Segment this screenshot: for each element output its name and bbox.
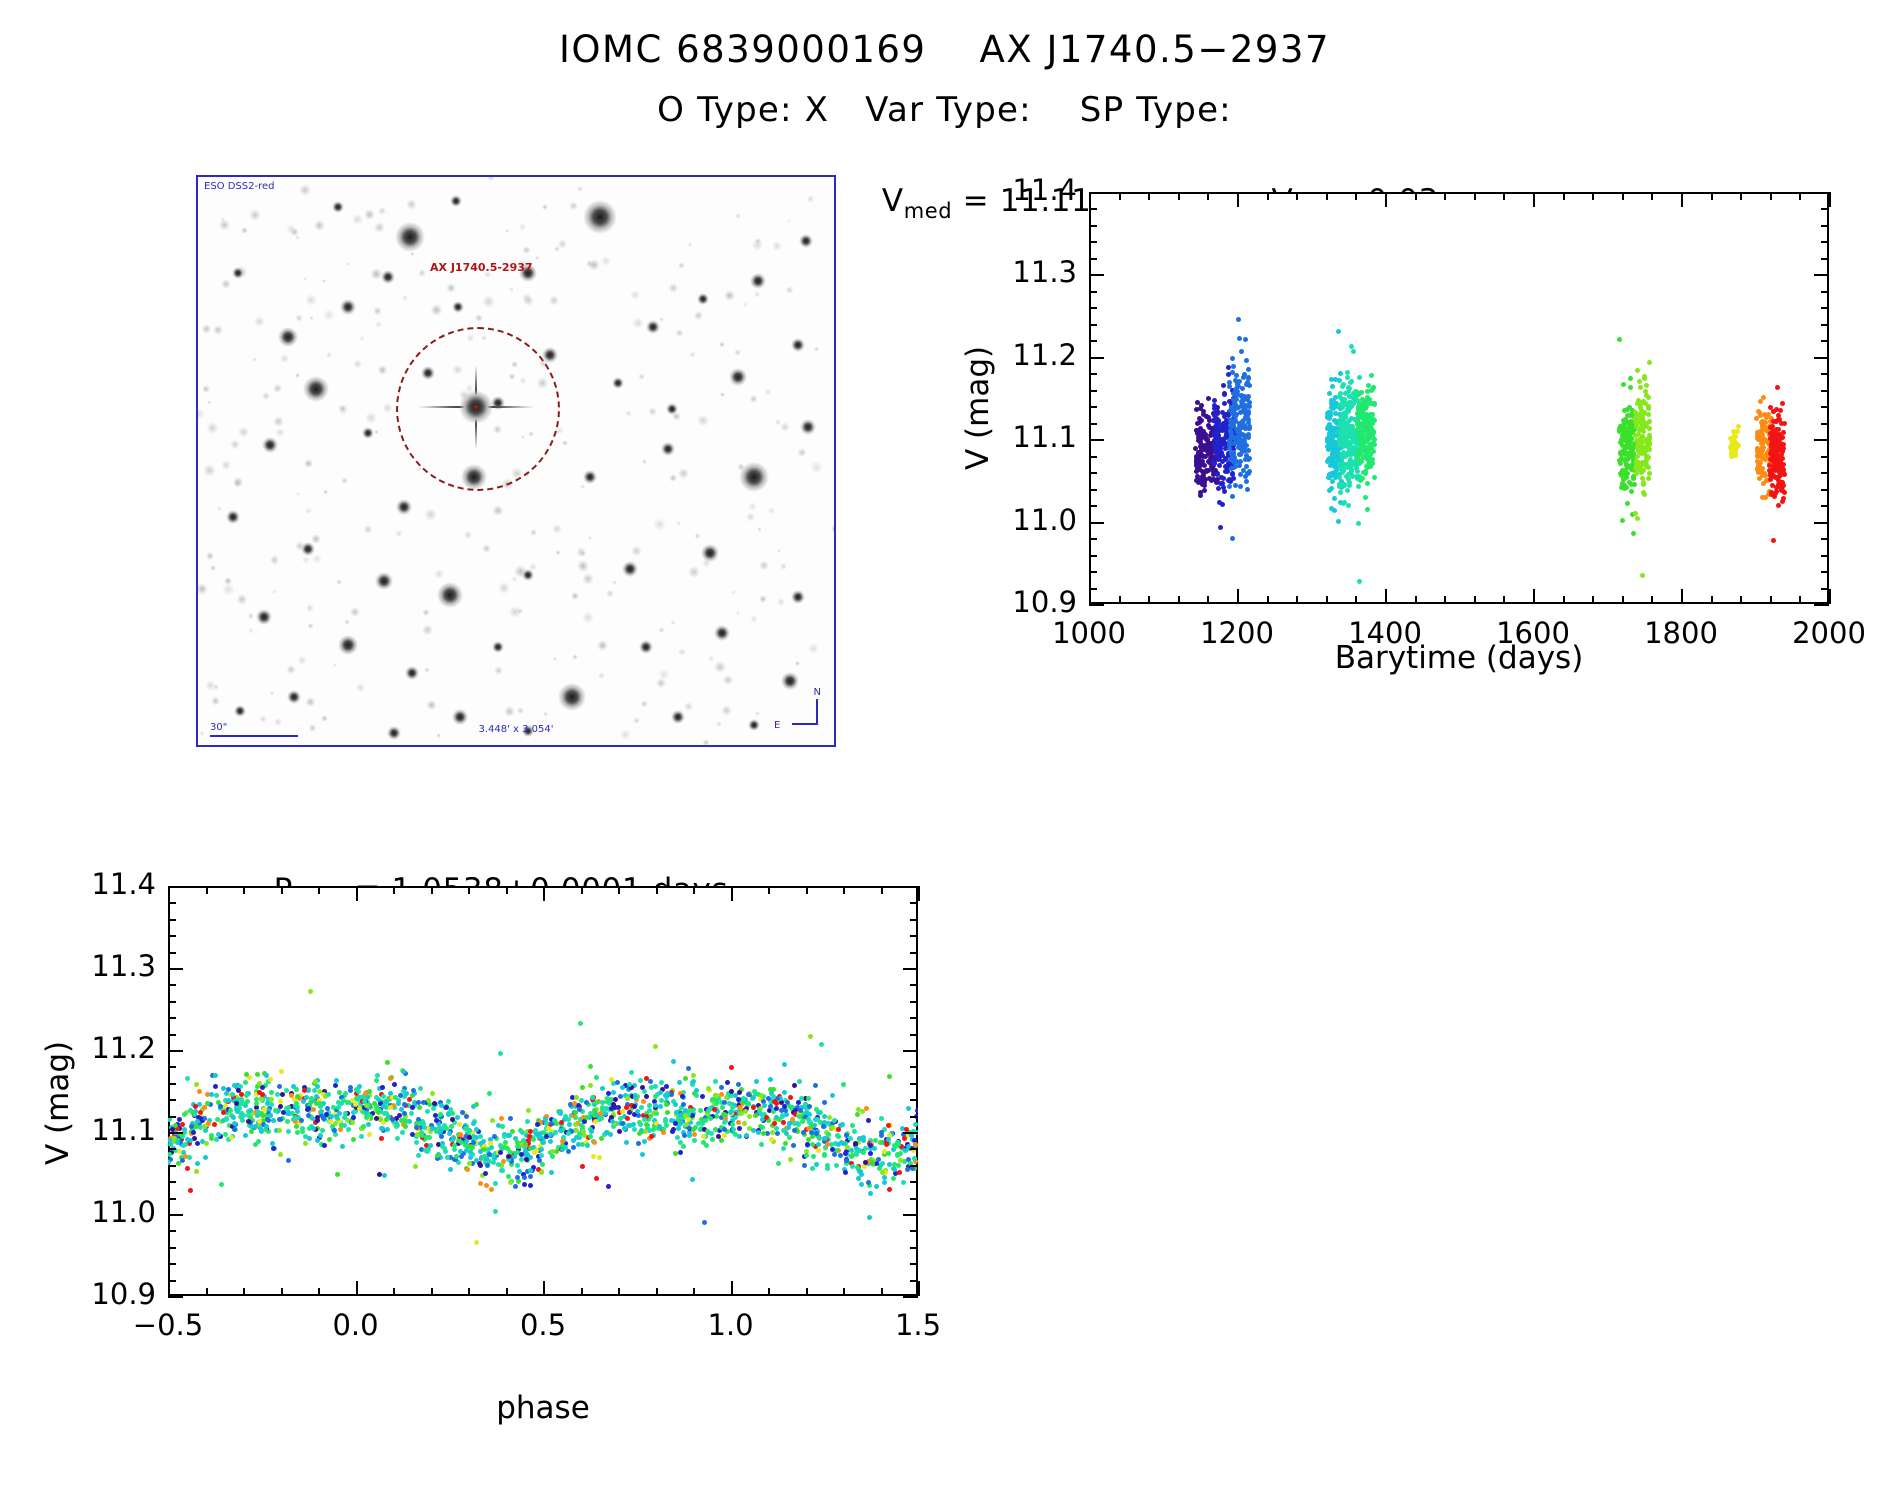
- page-title: IOMC 6839000169 AX J1740.5−2937: [0, 28, 1889, 71]
- axis-tick-label: 11.4: [60, 867, 156, 901]
- finder-chart-frame: ESO DSS2-red AX J1740.5-2937 30" 3.448' …: [196, 175, 836, 747]
- object-type-line: O Type: X Var Type: SP Type:: [0, 90, 1889, 130]
- axis-tick-label: 11.4: [981, 173, 1077, 207]
- time-series-x-axis-title: Barytime (days): [1089, 640, 1829, 676]
- axis-tick-label: 11.3: [981, 255, 1077, 289]
- compass-north-label: N: [814, 687, 821, 698]
- axis-tick-label: 10.9: [60, 1277, 156, 1311]
- axis-tick-label: 0.5: [483, 1308, 603, 1342]
- compass-east-label: E: [774, 720, 780, 731]
- phase-folded-plot[interactable]: [168, 886, 918, 1296]
- target-annotation-label: AX J1740.5-2937: [430, 261, 533, 274]
- axis-tick-label: 0.0: [296, 1308, 416, 1342]
- aperture-circle-icon: [396, 327, 560, 491]
- time-series-data-points: [1089, 192, 1829, 604]
- finder-chart-panel[interactable]: ESO DSS2-red AX J1740.5-2937 30" 3.448' …: [196, 175, 836, 747]
- axis-tick-label: 11.0: [60, 1195, 156, 1229]
- axis-tick-label: 10.9: [981, 585, 1077, 619]
- phase-plot-y-axis-title: V (mag): [40, 1041, 76, 1165]
- iomc-summary-sheet: IOMC 6839000169 AX J1740.5−2937 O Type: …: [0, 0, 1889, 1494]
- vmed-symbol: V: [882, 183, 904, 219]
- phase-plot-x-axis-title: phase: [168, 1390, 918, 1426]
- scale-bar-label: 30": [210, 722, 227, 733]
- field-size-label: 3.448' x 3.054': [478, 724, 553, 735]
- axis-tick-label: 1.5: [858, 1308, 978, 1342]
- axis-tick-label: −0.5: [108, 1308, 228, 1342]
- compass-icon: N E: [780, 691, 820, 731]
- time-series-y-axis-title: V (mag): [960, 346, 996, 470]
- axis-tick-label: 11.3: [60, 949, 156, 983]
- axis-tick-label: 1.0: [671, 1308, 791, 1342]
- axis-tick-label: 11.0: [981, 503, 1077, 537]
- time-series-plot[interactable]: [1089, 192, 1829, 604]
- vmed-subscript: med: [904, 199, 953, 223]
- scale-bar-icon: [210, 735, 298, 737]
- phase-folded-data-points: [168, 886, 918, 1296]
- survey-label: ESO DSS2-red: [204, 181, 274, 192]
